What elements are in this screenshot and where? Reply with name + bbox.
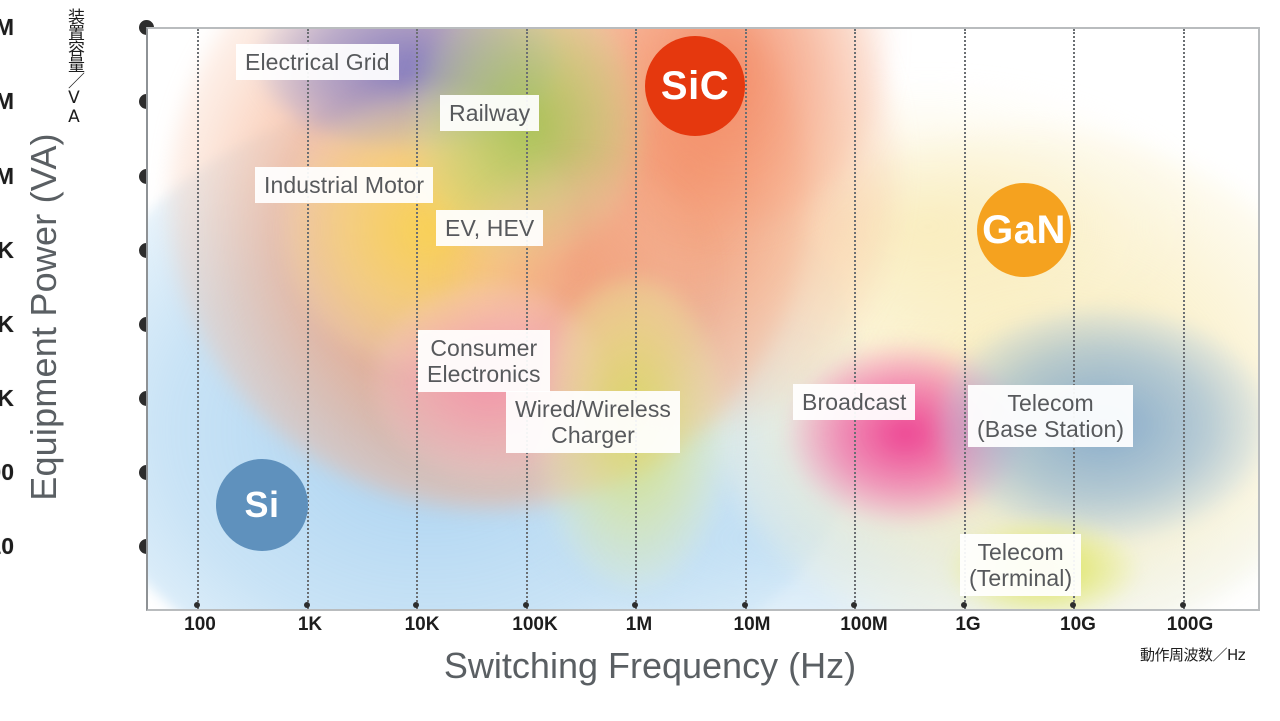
x-tick-10G: 10G [1060,614,1096,636]
gridline-1M [635,29,637,609]
x-tick-100K: 100K [512,614,557,636]
app-label-consumer-electronics[interactable]: Consumer Electronics [418,330,550,392]
x-tick-dot-100G [1180,602,1186,608]
x-tick-10M: 10M [734,614,771,636]
x-tick-100M: 100M [840,614,888,636]
app-label-wired-wireless-charger[interactable]: Wired/Wireless Charger [506,391,680,453]
x-tick-100G: 100G [1167,614,1213,636]
app-label-electrical-grid[interactable]: Electrical Grid [236,44,399,80]
x-tick-dot-100 [194,602,200,608]
gridline-10M [745,29,747,609]
x-tick-dot-100M [851,602,857,608]
gridline-100 [197,29,199,609]
gridline-10G [1073,29,1075,609]
x-tick-dot-1M [632,602,638,608]
x-tick-dot-1K [304,602,310,608]
tech-bubble-sic[interactable]: SiC [645,36,745,136]
x-tick-1K: 1K [298,614,322,636]
x-tick-10K: 10K [405,614,440,636]
chart-canvas: Equipment Power (VA) 装置容量／VA Switching F… [0,0,1280,721]
x-tick-dot-10K [413,602,419,608]
x-axis-title: Switching Frequency (Hz) [150,645,1150,687]
tech-bubble-si[interactable]: Si [216,459,308,551]
app-label-railway[interactable]: Railway [440,95,539,131]
y-axis-title-japanese: 装置容量／VA [58,8,82,126]
x-tick-1M: 1M [626,614,652,636]
x-tick-1G: 1G [955,614,980,636]
app-label-telecom-base-station[interactable]: Telecom (Base Station) [968,385,1133,447]
plot-area: Electrical Grid Railway Industrial Motor… [146,27,1260,611]
x-tick-dot-10G [1070,602,1076,608]
app-label-industrial-motor[interactable]: Industrial Motor [255,167,433,203]
gridline-100G [1183,29,1185,609]
x-tick-dot-1G [961,602,967,608]
app-label-broadcast[interactable]: Broadcast [793,384,915,420]
x-axis-title-japanese: 動作周波数／Hz [1140,644,1245,665]
gridline-100M [854,29,856,609]
x-tick-dot-100K [523,602,529,608]
app-label-telecom-terminal[interactable]: Telecom (Terminal) [960,534,1081,596]
gridline-1G [964,29,966,609]
gridline-1K [307,29,309,609]
tech-bubble-gan[interactable]: GaN [977,183,1071,277]
x-tick-100: 100 [184,614,216,636]
x-tick-dot-10M [742,602,748,608]
app-label-ev-hev[interactable]: EV, HEV [436,210,543,246]
gridline-10K [416,29,418,609]
